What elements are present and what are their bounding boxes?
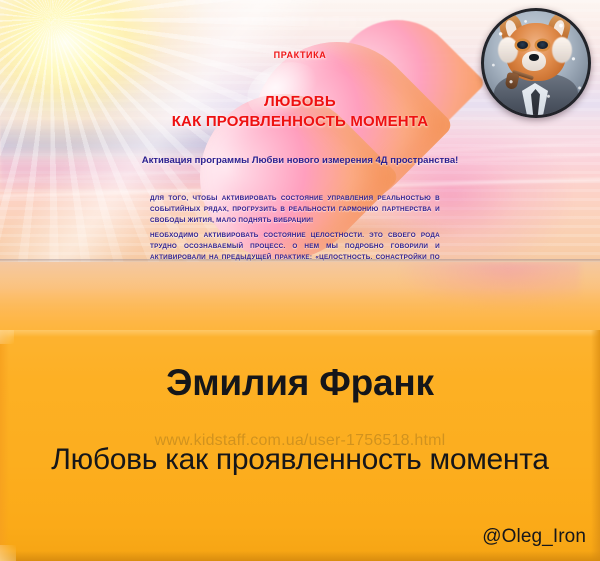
panel-corner-bottom-left [0, 545, 16, 561]
practice-label: ПРАКТИКА [0, 50, 600, 60]
author-name: Эмилия Франк [0, 362, 600, 404]
book-title: Любовь как проявленность момента [0, 443, 600, 477]
banner-subtitle: Активация программы Любви нового измерен… [0, 155, 600, 166]
panel-bevel-top [0, 330, 600, 337]
seller-handle: @Oleg_Iron [482, 526, 586, 548]
banner-title-line-1: ЛЮБОВЬ [0, 93, 600, 110]
promo-banner: ПРАКТИКА ЛЮБОВЬ КАК ПРОЯВЛЕННОСТЬ МОМЕНТ… [0, 0, 600, 262]
panel-corner-top-left [0, 330, 14, 344]
banner-body-paragraph-1: ДЛЯ ТОГО, ЧТОБЫ АКТИВИРОВАТЬ СОСТОЯНИЕ У… [150, 193, 440, 227]
banner-body-text: ДЛЯ ТОГО, ЧТОБЫ АКТИВИРОВАТЬ СОСТОЯНИЕ У… [150, 193, 440, 262]
panel-bevel-bottom [0, 551, 600, 561]
product-listing-image: ПРАКТИКА ЛЮБОВЬ КАК ПРОЯВЛЕННОСТЬ МОМЕНТ… [0, 0, 600, 561]
banner-body-paragraph-2: НЕОБХОДИМО АКТИВИРОВАТЬ СОСТОЯНИЕ ЦЕЛОСТ… [150, 230, 440, 262]
banner-title-line-2: КАК ПРОЯВЛЕННОСТЬ МОМЕНТА [0, 113, 600, 130]
